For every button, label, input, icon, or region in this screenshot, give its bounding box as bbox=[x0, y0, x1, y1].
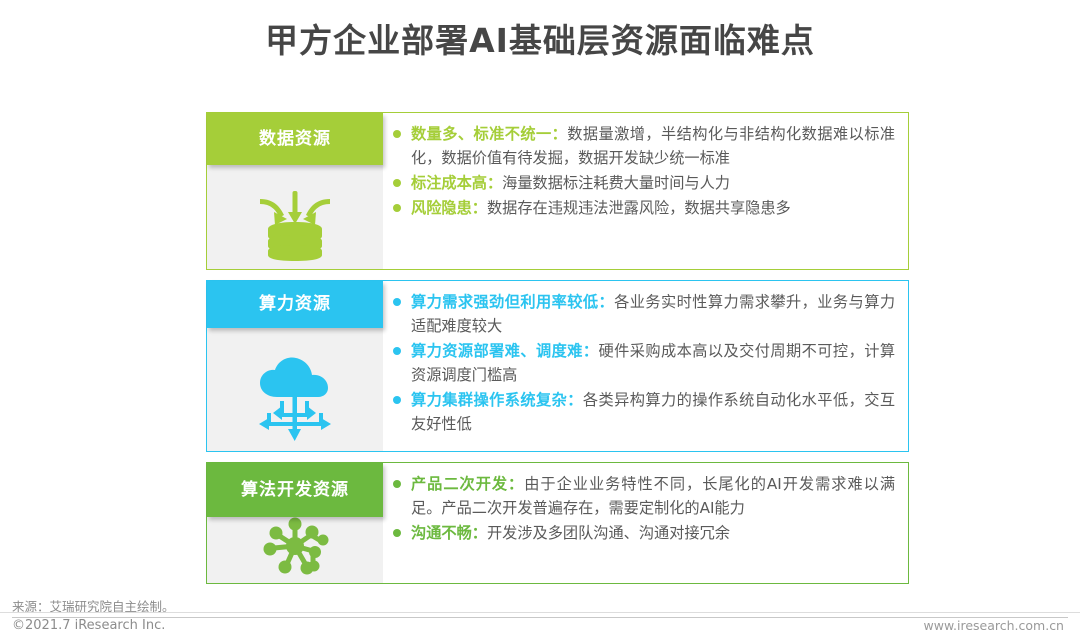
card-compute-resource: 算力资源 bbox=[206, 280, 909, 452]
card-data-resource-bullet-list: 数量多、标准不统一：数据量激增，半结构化与非结构化数据难以标准化，数据价值有待发… bbox=[391, 122, 895, 220]
copyright-text: ©2021.7 iResearch Inc. bbox=[12, 618, 165, 633]
bullet-lead: 沟通不畅： bbox=[411, 524, 487, 542]
bullet-dot-icon bbox=[393, 298, 401, 306]
molecule-network-icon bbox=[207, 515, 383, 583]
bullet-item: 标注成本高：海量数据标注耗费大量时间与人力 bbox=[391, 171, 895, 195]
bullet-lead: 算力需求强劲但利用率较低： bbox=[411, 293, 614, 311]
card-data-resource-tab[interactable]: 数据资源 bbox=[207, 113, 383, 165]
bullet-item: 算力集群操作系统复杂：各类异构算力的操作系统自动化水平低，交互友好性低 bbox=[391, 388, 895, 436]
bullet-lead: 标注成本高： bbox=[411, 174, 502, 192]
card-compute-resource-tab[interactable]: 算力资源 bbox=[207, 281, 383, 328]
bullet-dot-icon bbox=[393, 396, 401, 404]
bullet-body: 数据存在违规违法泄露风险，数据共享隐患多 bbox=[487, 199, 791, 217]
card-data-resource-text-column: 数量多、标准不统一：数据量激增，半结构化与非结构化数据难以标准化，数据价值有待发… bbox=[383, 113, 908, 269]
bullet-lead: 产品二次开发： bbox=[411, 475, 524, 493]
database-download-icon bbox=[207, 185, 383, 269]
card-algorithm-resource-icon-column: 算法开发资源 bbox=[207, 463, 383, 583]
card-compute-resource-text-column: 算力需求强劲但利用率较低：各业务实时性算力需求攀升，业务与算力适配难度较大 算力… bbox=[383, 281, 908, 451]
bullet-item: 产品二次开发：由于企业业务特性不同，长尾化的AI开发需求难以满足。产品二次开发普… bbox=[391, 472, 895, 520]
source-note: 来源：艾瑞研究院自主绘制。 bbox=[12, 596, 1068, 618]
cloud-distribute-icon bbox=[207, 353, 383, 451]
card-data-resource-tab-label: 数据资源 bbox=[259, 129, 331, 149]
bullet-lead: 风险隐患： bbox=[411, 199, 487, 217]
card-compute-resource-icon-column: 算力资源 bbox=[207, 281, 383, 451]
slide-canvas: 甲方企业部署AI基础层资源面临难点 数据资源 bbox=[0, 0, 1080, 640]
bullet-lead: 数量多、标准不统一： bbox=[411, 125, 567, 143]
website-url[interactable]: www.iresearch.com.cn bbox=[924, 618, 1065, 633]
card-compute-resource-tab-label: 算力资源 bbox=[259, 294, 331, 314]
footer-divider bbox=[0, 612, 1080, 613]
bullet-lead: 算力资源部署难、调度难： bbox=[411, 342, 599, 360]
bullet-body: 开发涉及多团队沟通、沟通对接冗余 bbox=[487, 524, 730, 542]
card-algorithm-resource-text-column: 产品二次开发：由于企业业务特性不同，长尾化的AI开发需求难以满足。产品二次开发普… bbox=[383, 463, 908, 583]
cards-container: 数据资源 bbox=[206, 112, 909, 594]
card-compute-resource-bullet-list: 算力需求强劲但利用率较低：各业务实时性算力需求攀升，业务与算力适配难度较大 算力… bbox=[391, 290, 895, 436]
bullet-item: 数量多、标准不统一：数据量激增，半结构化与非结构化数据难以标准化，数据价值有待发… bbox=[391, 122, 895, 170]
bullet-dot-icon bbox=[393, 347, 401, 355]
bullet-dot-icon bbox=[393, 204, 401, 212]
bullet-body: 海量数据标注耗费大量时间与人力 bbox=[502, 174, 730, 192]
bullet-dot-icon bbox=[393, 529, 401, 537]
bullet-dot-icon bbox=[393, 130, 401, 138]
bullet-lead: 算力集群操作系统复杂： bbox=[411, 391, 583, 409]
card-algorithm-resource-bullet-list: 产品二次开发：由于企业业务特性不同，长尾化的AI开发需求难以满足。产品二次开发普… bbox=[391, 472, 895, 545]
bullet-item: 算力需求强劲但利用率较低：各业务实时性算力需求攀升，业务与算力适配难度较大 bbox=[391, 290, 895, 338]
page-title: 甲方企业部署AI基础层资源面临难点 bbox=[0, 14, 1080, 62]
bullet-dot-icon bbox=[393, 480, 401, 488]
bullet-item: 算力资源部署难、调度难：硬件采购成本高以及交付周期不可控，计算资源调度门槛高 bbox=[391, 339, 895, 387]
card-data-resource-icon-column: 数据资源 bbox=[207, 113, 383, 269]
bullet-item: 风险隐患：数据存在违规违法泄露风险，数据共享隐患多 bbox=[391, 196, 895, 220]
bullet-item: 沟通不畅：开发涉及多团队沟通、沟通对接冗余 bbox=[391, 521, 895, 545]
card-algorithm-resource-tab-label: 算法开发资源 bbox=[241, 480, 349, 500]
card-algorithm-resource-tab[interactable]: 算法开发资源 bbox=[207, 463, 383, 517]
card-data-resource: 数据资源 bbox=[206, 112, 909, 270]
bullet-dot-icon bbox=[393, 179, 401, 187]
card-algorithm-resource: 算法开发资源 bbox=[206, 462, 909, 584]
